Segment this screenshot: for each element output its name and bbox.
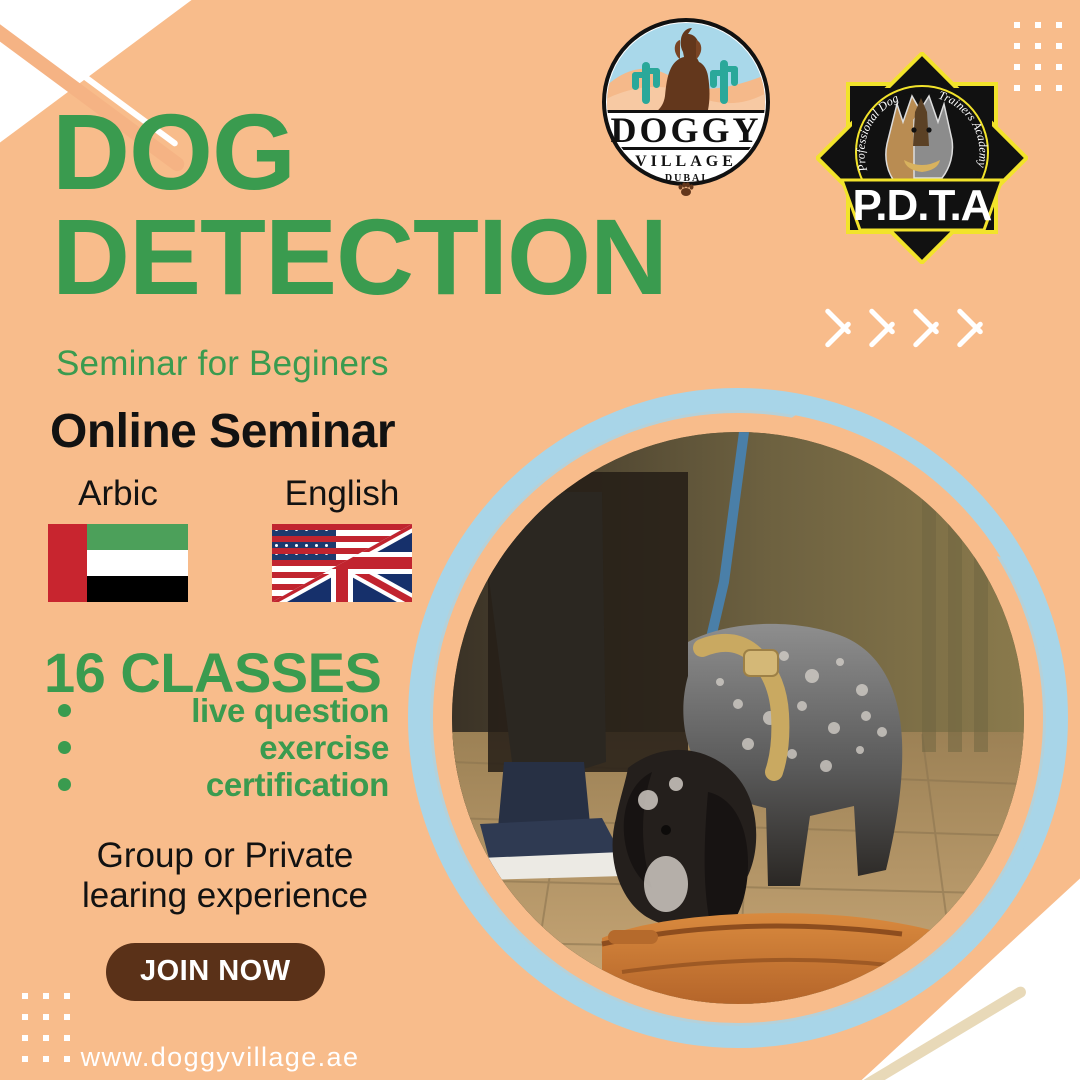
title-line-2: DETECTION [52, 205, 752, 310]
flag-star [275, 544, 278, 547]
experience-text: Group or Private learing experience [60, 836, 390, 916]
flag-star [295, 544, 298, 547]
flag-star [305, 544, 308, 547]
dot [1014, 43, 1020, 49]
dot [22, 993, 28, 999]
language-label: Arbic [78, 474, 158, 514]
language-item-english: English [272, 474, 412, 602]
feature-bullet-list: live questionexercisecertification [44, 692, 389, 803]
language-label: English [285, 474, 400, 514]
uae-flag-icon [48, 524, 188, 602]
pdta-logo: Professional Dog Trainers Academy P.D.T.… [816, 52, 1028, 264]
poster-canvas: DOGGY VILLAGE DUBAI [0, 0, 1080, 1080]
language-item-arabic: Arbic [48, 474, 188, 602]
dot [43, 1014, 49, 1020]
dog-sniffing-bag-photo [452, 432, 1024, 1004]
dot [1056, 22, 1062, 28]
dot [1056, 43, 1062, 49]
flag-star [315, 544, 318, 547]
hero-photo-container [408, 388, 1068, 1048]
dot [22, 1014, 28, 1020]
flag-star [285, 544, 288, 547]
bullet-dot-icon [58, 778, 71, 791]
svg-text:P.D.T.A: P.D.T.A [853, 181, 992, 230]
title-line-1: DOG [52, 91, 295, 212]
dot [1035, 43, 1041, 49]
experience-line-1: Group or Private [97, 836, 354, 875]
bullet-dot-icon [58, 741, 71, 754]
join-now-button[interactable]: JOIN NOW [106, 943, 325, 1001]
page-title: DOG DETECTION [52, 100, 752, 310]
feature-bullet: certification [44, 766, 389, 803]
language-list: Arbic English [48, 474, 412, 602]
dot [1056, 85, 1062, 91]
chevron-right-icon [912, 292, 948, 362]
chevron-right-icon [956, 292, 992, 362]
feature-bullet: live question [44, 692, 389, 729]
subtitle: Seminar for Beginers [56, 344, 389, 384]
feature-bullet-label: exercise [71, 729, 389, 767]
feature-bullet-label: live question [71, 692, 389, 730]
dot [1035, 64, 1041, 70]
feature-bullet-label: certification [71, 766, 389, 804]
us-uk-flag-icon [272, 524, 412, 602]
bullet-dot-icon [58, 704, 71, 717]
format-label: Online Seminar [50, 404, 395, 459]
dot [1056, 64, 1062, 70]
dot [22, 1035, 28, 1041]
chevron-arrows-decoration [824, 292, 992, 362]
dot [64, 993, 70, 999]
dot [1035, 22, 1041, 28]
chevron-right-icon [868, 292, 904, 362]
dot [1014, 22, 1020, 28]
dot [64, 1014, 70, 1020]
feature-bullet: exercise [44, 729, 389, 766]
chevron-right-icon [824, 292, 860, 362]
dot [1035, 85, 1041, 91]
flag-star [325, 544, 328, 547]
dot [43, 993, 49, 999]
experience-line-2: learing experience [82, 876, 368, 915]
website-url: www.doggyvillage.ae [0, 1042, 440, 1073]
dot [43, 1035, 49, 1041]
dot [64, 1035, 70, 1041]
flag-stripe [272, 524, 412, 530]
